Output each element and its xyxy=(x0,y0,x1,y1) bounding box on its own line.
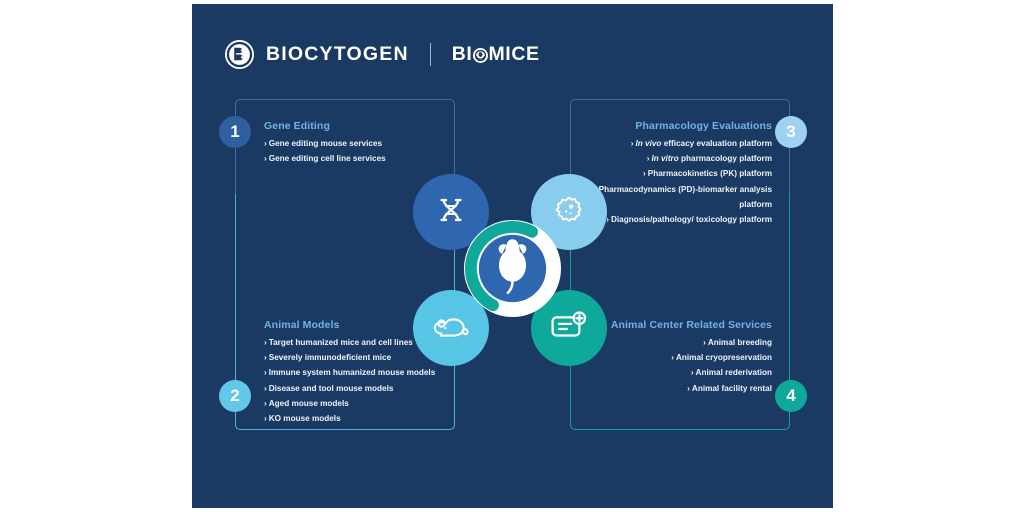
brand-secondary-post: MICE xyxy=(488,45,539,65)
list-item: ›Gene editing cell line services xyxy=(264,151,386,166)
list-item: ›Gene editing mouse services xyxy=(264,136,386,151)
section-title-pharmacology-evaluations: Pharmacology Evaluations xyxy=(570,120,772,132)
list-item: ›In vivo efficacy evaluation platform xyxy=(570,136,772,151)
section-items-gene-editing: ›Gene editing mouse services›Gene editin… xyxy=(264,136,386,166)
chevron-right-icon: › xyxy=(264,338,267,347)
list-item: ›Disease and tool mouse models xyxy=(264,381,435,396)
chevron-right-icon: › xyxy=(687,384,690,393)
chevron-right-icon: › xyxy=(264,368,267,377)
center-mouse-emblem[interactable] xyxy=(463,219,562,318)
chevron-right-icon: › xyxy=(671,353,674,362)
infographic-canvas: BIOCYTOGEN BI MICE 1 2 3 4 Gene Editing … xyxy=(192,4,833,508)
section-items-animal-models: ›Target humanized mice and cell lines›Se… xyxy=(264,335,435,426)
chevron-right-icon: › xyxy=(703,338,706,347)
biocytogen-circle-logo-icon xyxy=(225,40,254,69)
chevron-right-icon: › xyxy=(264,139,267,148)
list-item: ›In vitro pharmacology platform xyxy=(570,151,772,166)
section-gene-editing: Gene Editing ›Gene editing mouse service… xyxy=(264,120,386,166)
list-item: ›Target humanized mice and cell lines xyxy=(264,335,435,350)
list-item: ›Aged mouse models xyxy=(264,396,435,411)
list-item: ›Pharmacokinetics (PK) platform xyxy=(570,166,772,181)
brand-secondary-pre: BI xyxy=(452,45,473,65)
badge-section-1[interactable]: 1 xyxy=(219,116,251,148)
chevron-right-icon: › xyxy=(264,154,267,163)
chevron-right-icon: › xyxy=(264,399,267,408)
section-animal-models: Animal Models ›Target humanized mice and… xyxy=(264,319,435,426)
list-item: ›Immune system humanized mouse models xyxy=(264,365,435,380)
section-title-gene-editing: Gene Editing xyxy=(264,120,386,132)
brand-name-primary: BIOCYTOGEN xyxy=(266,45,409,65)
logo-divider xyxy=(430,43,431,66)
list-item: ›Severely immunodeficient mice xyxy=(264,350,435,365)
badge-section-3[interactable]: 3 xyxy=(775,116,807,148)
chevron-right-icon: › xyxy=(264,414,267,423)
list-item: ›KO mouse models xyxy=(264,411,435,426)
biomice-o-emblem-icon xyxy=(473,48,488,63)
list-item: ›Animal facility rental xyxy=(570,381,772,396)
chevron-right-icon: › xyxy=(264,353,267,362)
brand-logo: BIOCYTOGEN BI MICE xyxy=(225,40,540,69)
chevron-right-icon: › xyxy=(631,139,634,148)
brand-name-secondary: BI MICE xyxy=(452,45,540,65)
list-item: ›Animal cryopreservation xyxy=(570,350,772,365)
section-title-animal-models: Animal Models xyxy=(264,319,435,331)
badge-section-2[interactable]: 2 xyxy=(219,380,251,412)
chevron-right-icon: › xyxy=(643,169,646,178)
chevron-right-icon: › xyxy=(647,154,650,163)
list-item: ›Animal rederivation xyxy=(570,365,772,380)
badge-section-4[interactable]: 4 xyxy=(775,380,807,412)
chevron-right-icon: › xyxy=(691,368,694,377)
chevron-right-icon: › xyxy=(264,384,267,393)
